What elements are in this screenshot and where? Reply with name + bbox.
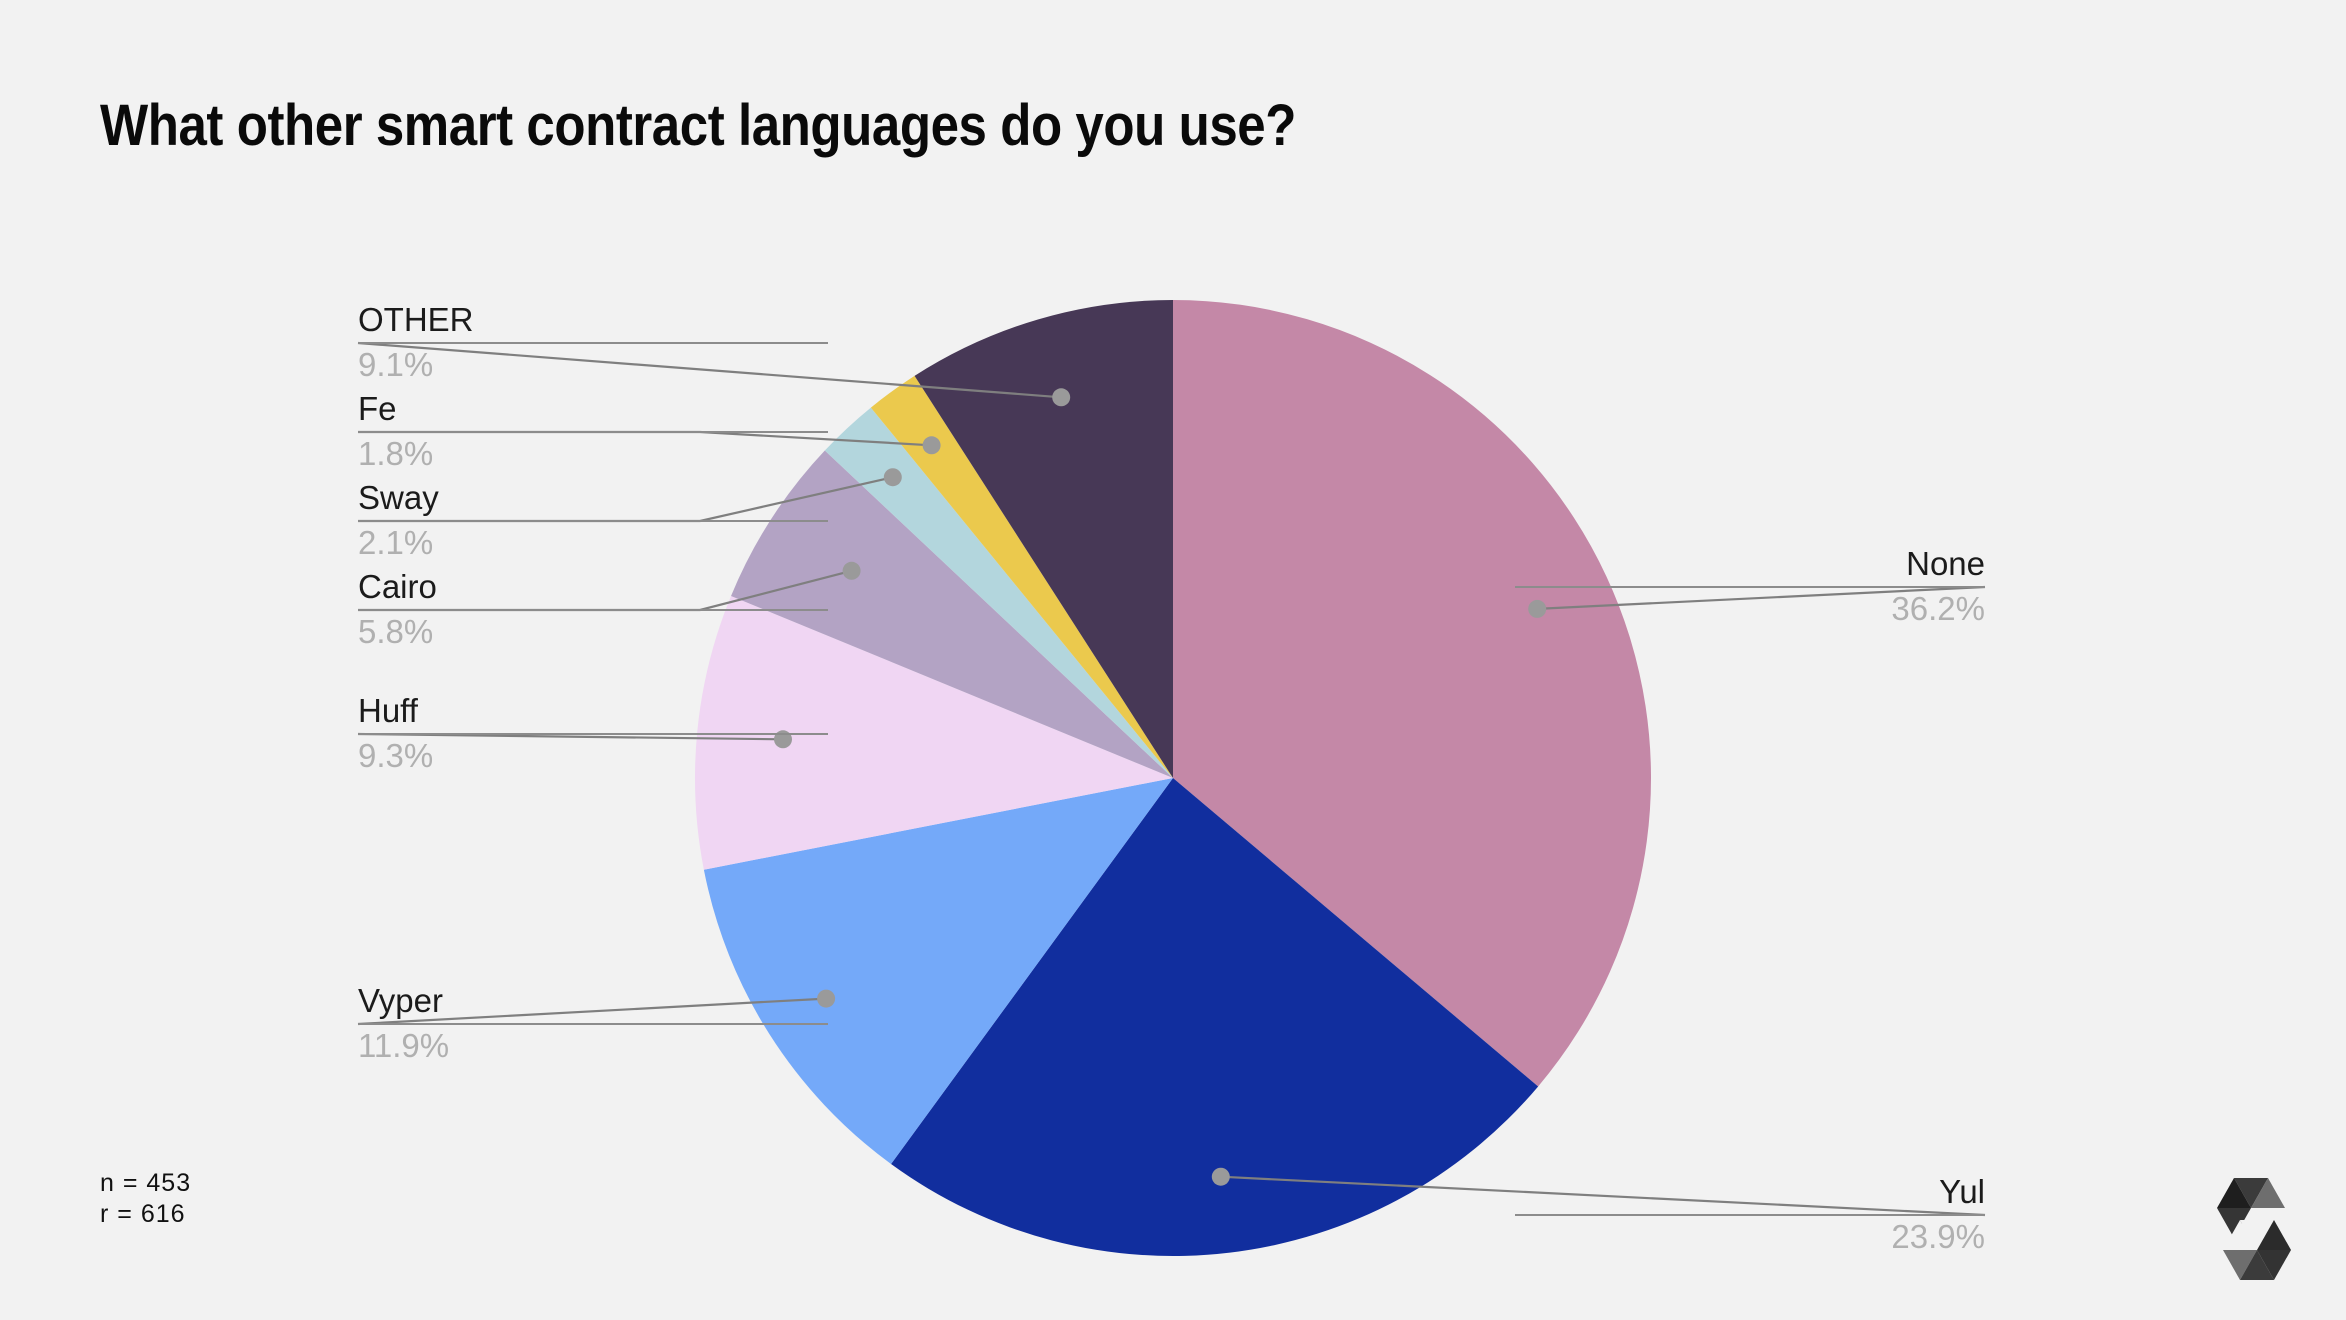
label-cairo: Cairo 5.8% — [358, 567, 828, 653]
leader-dot-cairo — [843, 562, 861, 580]
label-cairo-name: Cairo — [358, 567, 828, 607]
label-huff: Huff 9.3% — [358, 691, 828, 777]
r-value: r = 616 — [100, 1200, 186, 1228]
label-sway-name: Sway — [358, 478, 828, 518]
label-none-value: 36.2% — [1515, 588, 1985, 630]
label-other: OTHER 9.1% — [358, 300, 828, 386]
label-fe: Fe 1.8% — [358, 389, 828, 475]
label-sway-value: 2.1% — [358, 522, 828, 564]
pie-slices — [695, 300, 1651, 1256]
label-vyper-value: 11.9% — [358, 1025, 828, 1067]
leader-dot-other — [1052, 388, 1070, 406]
label-yul: Yul 23.9% — [1515, 1172, 1985, 1258]
label-vyper-name: Vyper — [358, 981, 828, 1021]
label-other-name: OTHER — [358, 300, 828, 340]
label-yul-value: 23.9% — [1515, 1216, 1985, 1258]
label-cairo-value: 5.8% — [358, 611, 828, 653]
leader-dot-sway — [884, 468, 902, 486]
leader-dot-yul — [1212, 1168, 1230, 1186]
pie-chart — [0, 0, 2346, 1320]
label-vyper: Vyper 11.9% — [358, 981, 828, 1067]
label-other-value: 9.1% — [358, 344, 828, 386]
label-fe-name: Fe — [358, 389, 828, 429]
label-none: None 36.2% — [1515, 544, 1985, 630]
chart-canvas: What other smart contract languages do y… — [0, 0, 2346, 1320]
solidity-logo — [2206, 1172, 2302, 1286]
label-yul-name: Yul — [1515, 1172, 1985, 1212]
n-value: n = 453 — [100, 1169, 191, 1197]
label-sway: Sway 2.1% — [358, 478, 828, 564]
label-fe-value: 1.8% — [358, 433, 828, 475]
label-huff-name: Huff — [358, 691, 828, 731]
label-none-name: None — [1515, 544, 1985, 584]
leader-dot-fe — [923, 436, 941, 454]
sample-size-note: n = 453 r = 616 — [100, 1168, 191, 1230]
label-huff-value: 9.3% — [358, 735, 828, 777]
